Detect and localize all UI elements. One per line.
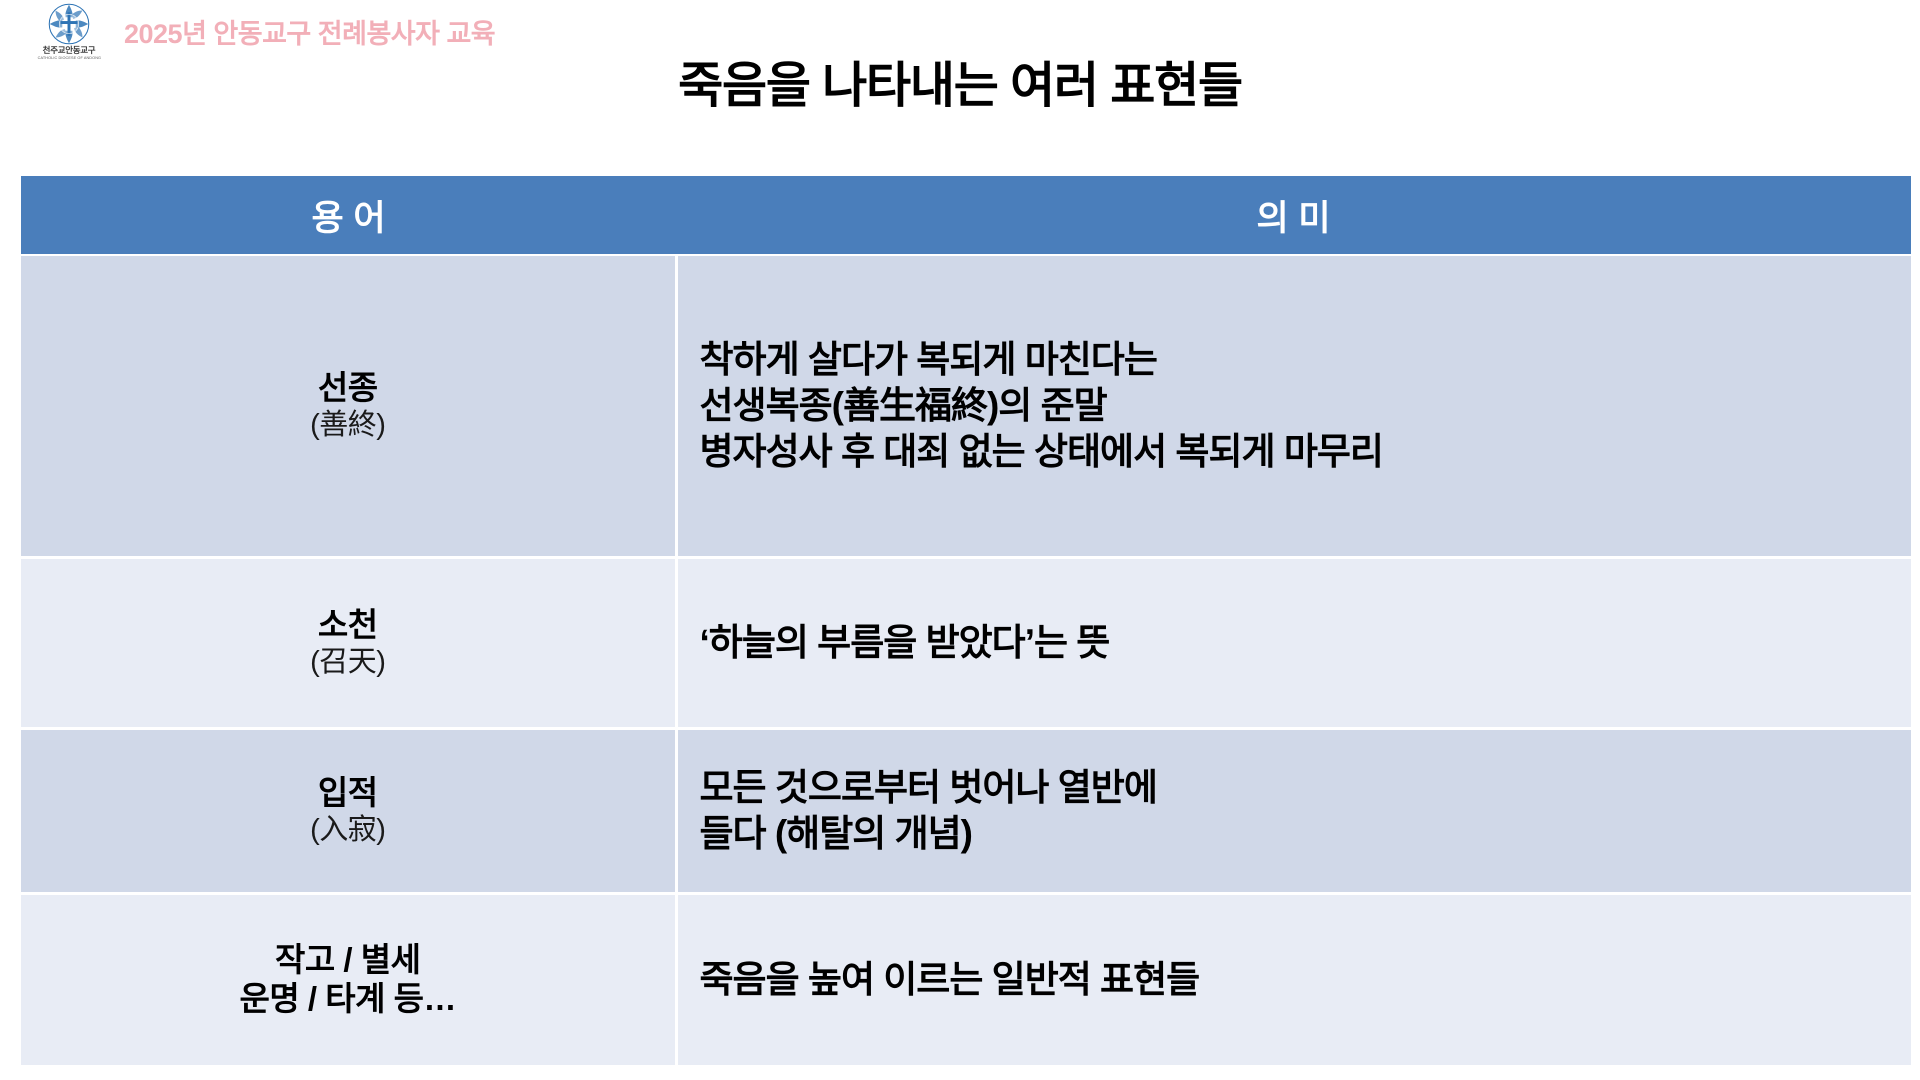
- diocese-logo: 천주교안동교구 CATHOLIC DIOCESE OF ANDONG: [38, 3, 100, 60]
- term-label: 소천: [21, 606, 675, 645]
- logo-korean-name: 천주교안동교구: [43, 46, 96, 55]
- term-label: 선종: [21, 369, 675, 408]
- meaning-label: 죽음을 높여 이르는 일반적 표현들: [700, 957, 1912, 1003]
- meaning-cell: 죽음을 높여 이르는 일반적 표현들: [676, 894, 1911, 1067]
- term-cell: 선종 (善終): [21, 255, 676, 558]
- term-hanja-label: (召天): [21, 645, 675, 680]
- logo-english-name: CATHOLIC DIOCESE OF ANDONG: [37, 56, 100, 60]
- meaning-cell: 모든 것으로부터 벗어나 열반에 들다 (해탈의 개념): [676, 729, 1911, 894]
- catholic-diocese-emblem-icon: [48, 3, 90, 45]
- table-header: 용 어 의 미: [21, 176, 1911, 255]
- table-body: 선종 (善終) 착하게 살다가 복되게 마친다는 선생복종(善生福終)의 준말 …: [21, 255, 1911, 1067]
- meaning-label: 착하게 살다가 복되게 마친다는 선생복종(善生福終)의 준말 병자성사 후 대…: [700, 337, 1912, 475]
- slide-header: 천주교안동교구 CATHOLIC DIOCESE OF ANDONG 2025년…: [0, 0, 1920, 62]
- table-row: 소천 (召天) ‘하늘의 부름을 받았다’는 뜻: [21, 558, 1911, 729]
- meaning-cell: 착하게 살다가 복되게 마친다는 선생복종(善生福終)의 준말 병자성사 후 대…: [676, 255, 1911, 558]
- column-header-term: 용 어: [21, 176, 676, 255]
- term-label: 입적: [21, 774, 675, 813]
- term-hanja-label: (善終): [21, 408, 675, 443]
- meaning-label: 모든 것으로부터 벗어나 열반에 들다 (해탈의 개념): [700, 765, 1912, 857]
- table-row: 입적 (入寂) 모든 것으로부터 벗어나 열반에 들다 (해탈의 개념): [21, 729, 1911, 894]
- page-title: 죽음을 나타내는 여러 표현들: [0, 60, 1920, 114]
- term-cell: 소천 (召天): [21, 558, 676, 729]
- death-expressions-table: 용 어 의 미 선종 (善終) 착하게 살다가 복되게 마친다는 선생복종(善生…: [21, 176, 1911, 1068]
- term-label: 작고 / 별세 운명 / 타계 등…: [21, 941, 675, 1019]
- term-hanja-label: (入寂): [21, 813, 675, 848]
- table-header-row: 용 어 의 미: [21, 176, 1911, 255]
- term-cell: 작고 / 별세 운명 / 타계 등…: [21, 894, 676, 1067]
- column-header-meaning: 의 미: [676, 176, 1911, 255]
- table-row: 선종 (善終) 착하게 살다가 복되게 마친다는 선생복종(善生福終)의 준말 …: [21, 255, 1911, 558]
- table-row: 작고 / 별세 운명 / 타계 등… 죽음을 높여 이르는 일반적 표현들: [21, 894, 1911, 1067]
- term-cell: 입적 (入寂): [21, 729, 676, 894]
- meaning-label: ‘하늘의 부름을 받았다’는 뜻: [700, 620, 1912, 666]
- course-title-label: 2025년 안동교구 전례봉사자 교육: [124, 12, 495, 51]
- meaning-cell: ‘하늘의 부름을 받았다’는 뜻: [676, 558, 1911, 729]
